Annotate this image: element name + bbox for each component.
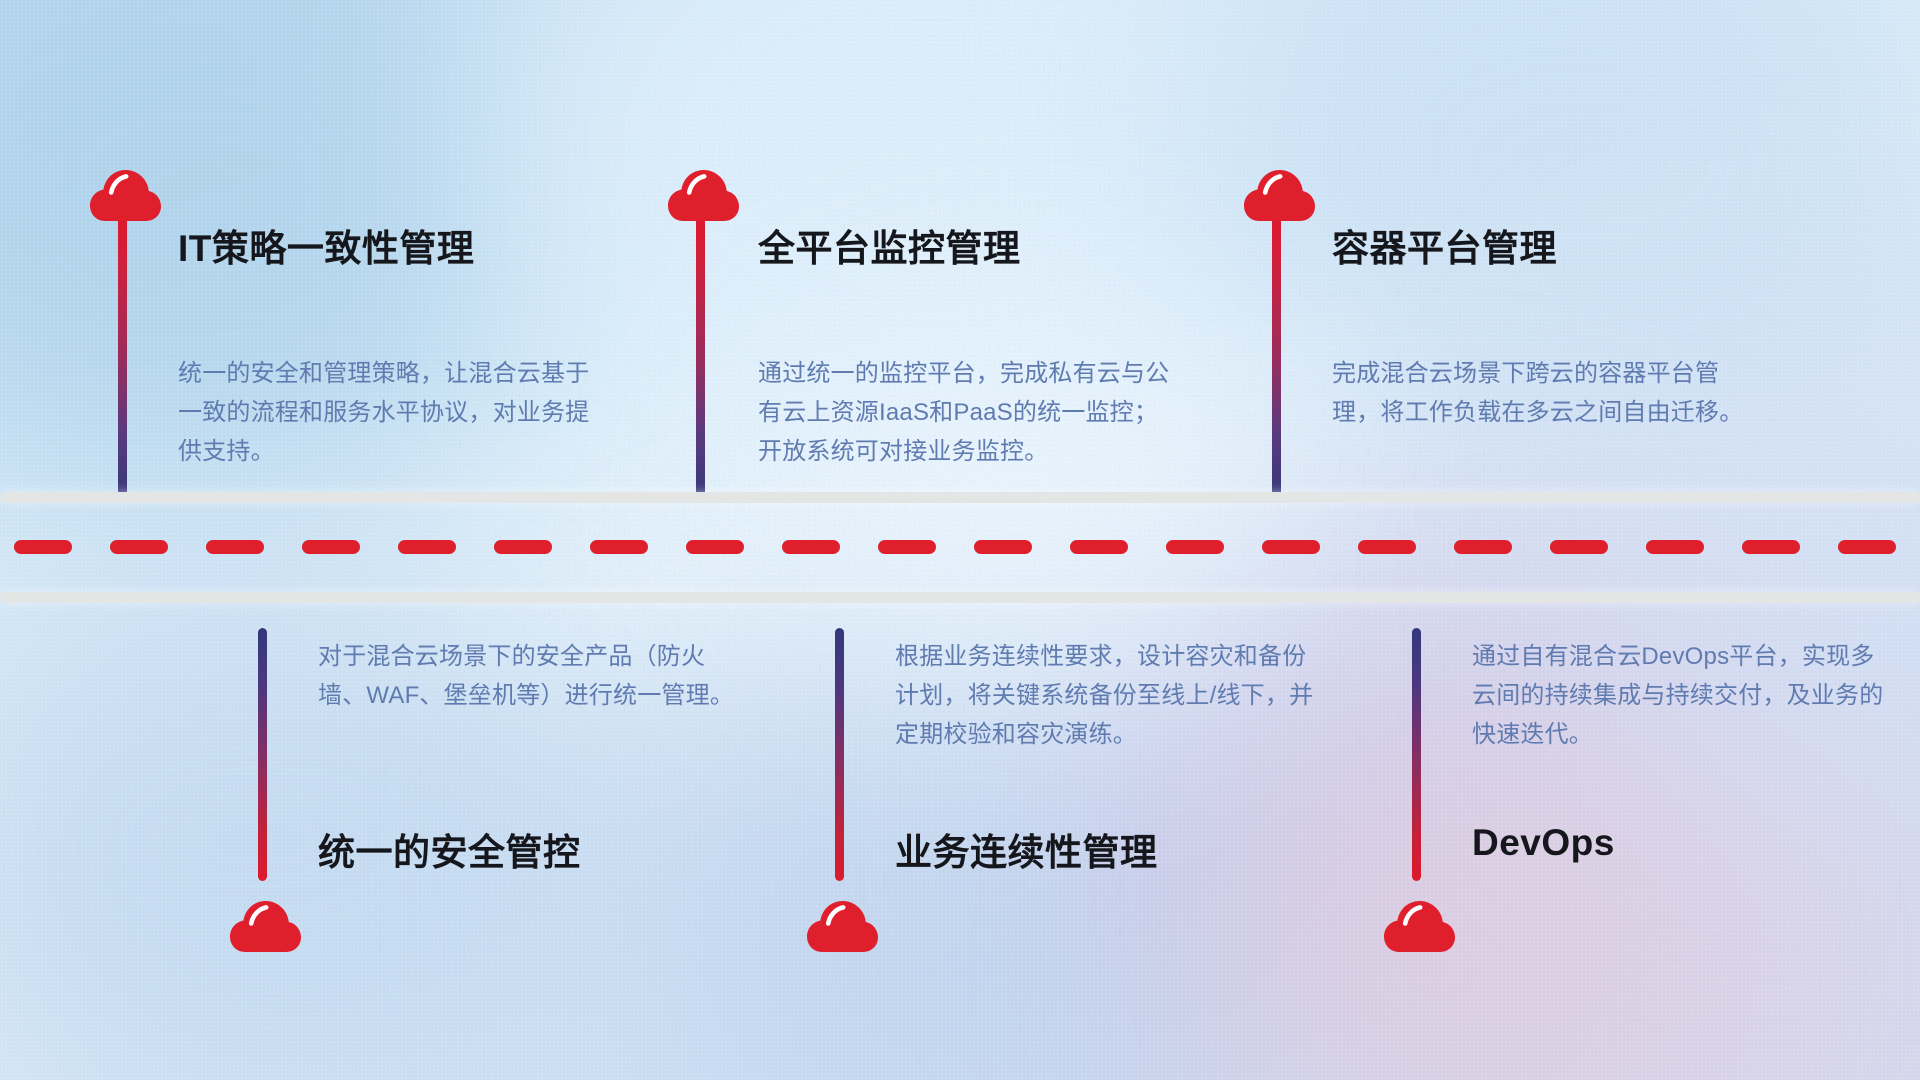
bottom-column-3-title: DevOps <box>1472 822 1615 864</box>
road-dash-segment <box>494 540 552 554</box>
infographic-canvas: IT策略一致性管理 统一的安全和管理策略，让混合云基于一致的流程和服务水平协议，… <box>0 0 1920 1080</box>
bottom-column-3-description: 通过自有混合云DevOps平台，实现多云间的持续集成与持续交付，及业务的快速迭代… <box>1472 638 1892 755</box>
top-column-2-title: 全平台监控管理 <box>758 218 1021 272</box>
top-column-1-description: 统一的安全和管理策略，让混合云基于一致的流程和服务水平协议，对业务提供支持。 <box>178 355 598 472</box>
road-dash-segment <box>14 540 72 554</box>
road-dash-segment <box>1262 540 1320 554</box>
bottom-column-1-description: 对于混合云场景下的安全产品（防火墙、WAF、堡垒机等）进行统一管理。 <box>318 638 738 716</box>
road-dash-segment <box>1070 540 1128 554</box>
road-dashed-centerline <box>0 540 1920 554</box>
cloud-icon <box>667 165 741 223</box>
road-dash-segment <box>1358 540 1416 554</box>
road-dash-segment <box>1742 540 1800 554</box>
stem-bar <box>696 208 705 503</box>
cloud-icon <box>806 896 880 954</box>
bottom-column-2-title: 业务连续性管理 <box>895 822 1158 876</box>
road-dash-segment <box>686 540 744 554</box>
road-dash-segment <box>1454 540 1512 554</box>
stem-bar <box>835 628 844 881</box>
stem-bar <box>1412 628 1421 881</box>
bottom-column-2-description: 根据业务连续性要求，设计容灾和备份计划，将关键系统备份至线上/线下，并定期校验和… <box>895 638 1315 755</box>
stem-bar <box>1272 208 1281 503</box>
road-dash-segment <box>590 540 648 554</box>
road-dash-segment <box>974 540 1032 554</box>
road-dash-segment <box>878 540 936 554</box>
road-dash-segment <box>110 540 168 554</box>
top-column-2-description: 通过统一的监控平台，完成私有云与公有云上资源IaaS和PaaS的统一监控；开放系… <box>758 355 1178 472</box>
cloud-icon <box>229 896 303 954</box>
top-column-1-title: IT策略一致性管理 <box>178 218 474 272</box>
road-dash-segment <box>782 540 840 554</box>
road-line-top <box>0 492 1920 503</box>
top-column-3-description: 完成混合云场景下跨云的容器平台管理，将工作负载在多云之间自由迁移。 <box>1332 355 1752 433</box>
top-column-3-title: 容器平台管理 <box>1332 218 1557 272</box>
stem-bar <box>258 628 267 881</box>
road-line-bottom <box>0 592 1920 603</box>
road-dash-segment <box>1550 540 1608 554</box>
cloud-icon <box>1383 896 1457 954</box>
background-blob <box>1080 520 1780 1080</box>
road-dash-segment <box>206 540 264 554</box>
cloud-icon <box>1243 165 1317 223</box>
stem-bar <box>118 208 127 503</box>
bottom-column-1-title: 统一的安全管控 <box>318 822 581 876</box>
cloud-icon <box>89 165 163 223</box>
road-dash-segment <box>398 540 456 554</box>
road-dash-segment <box>1838 540 1896 554</box>
road-dash-segment <box>302 540 360 554</box>
road-dash-segment <box>1166 540 1224 554</box>
road-dash-segment <box>1646 540 1704 554</box>
